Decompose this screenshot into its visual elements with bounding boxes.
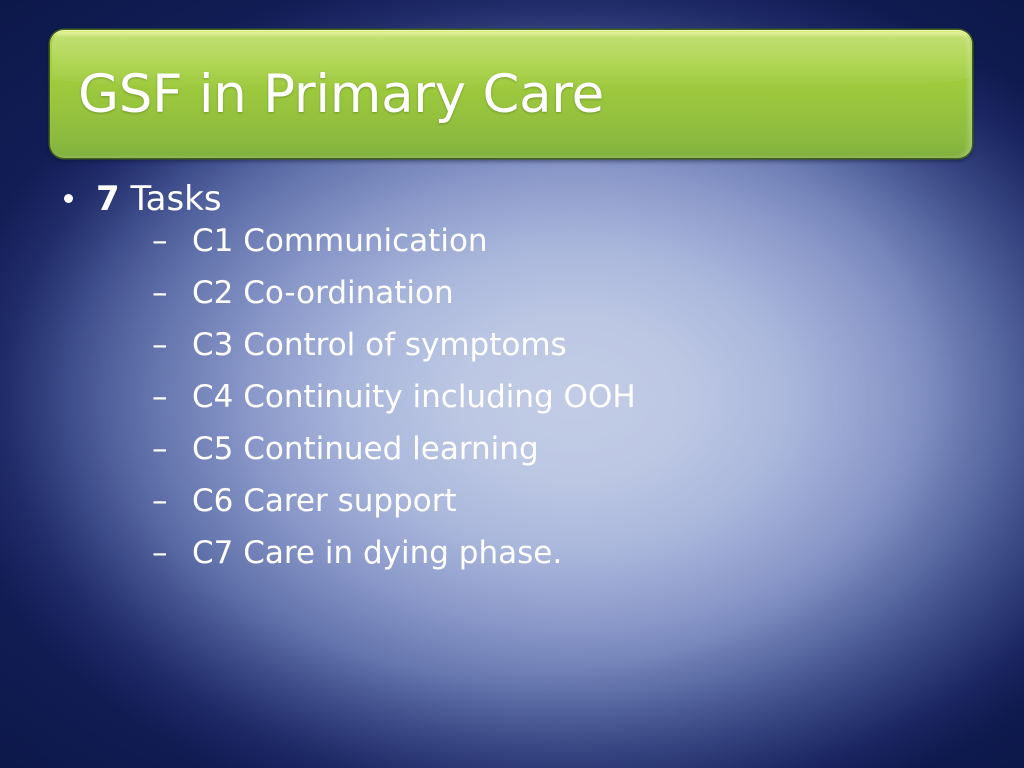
list-item-label: C3 Control of symptoms: [192, 327, 567, 363]
list-item-lead: 7: [96, 179, 120, 219]
list-item: – C7 Care in dying phase.: [96, 538, 984, 569]
list-item-label: C7 Care in dying phase.: [192, 535, 562, 571]
slide-body: 7 Tasks – C1 Communication – C2 Co-ordin…: [56, 182, 984, 590]
round-bullet-icon: [64, 194, 73, 203]
en-dash-bullet-icon: –: [152, 330, 168, 361]
list-item: – C1 Communication: [96, 226, 984, 257]
en-dash-bullet-icon: –: [152, 434, 168, 465]
list-item-label: C2 Co-ordination: [192, 275, 454, 311]
list-item: – C6 Carer support: [96, 486, 984, 517]
list-item-label: Tasks: [120, 179, 222, 219]
en-dash-bullet-icon: –: [152, 226, 168, 257]
en-dash-bullet-icon: –: [152, 538, 168, 569]
list-item-label: C6 Carer support: [192, 483, 457, 519]
list-item: 7 Tasks – C1 Communication – C2 Co-ordin…: [56, 182, 984, 569]
list-item-label: C1 Communication: [192, 223, 488, 259]
en-dash-bullet-icon: –: [152, 382, 168, 413]
presentation-slide: GSF in Primary Care 7 Tasks – C1 Communi…: [0, 0, 1024, 768]
list-item: – C4 Continuity including OOH: [96, 382, 984, 413]
page-title: GSF in Primary Care: [50, 68, 604, 121]
en-dash-bullet-icon: –: [152, 278, 168, 309]
list-item: – C5 Continued learning: [96, 434, 984, 465]
list-item: – C3 Control of symptoms: [96, 330, 984, 361]
bullet-list-level1: 7 Tasks – C1 Communication – C2 Co-ordin…: [56, 182, 984, 569]
bullet-list-level2: – C1 Communication – C2 Co-ordination – …: [96, 226, 984, 569]
en-dash-bullet-icon: –: [152, 486, 168, 517]
list-item-label: C5 Continued learning: [192, 431, 539, 467]
list-item: – C2 Co-ordination: [96, 278, 984, 309]
list-item-label: C4 Continuity including OOH: [192, 379, 636, 415]
slide-title-plaque: GSF in Primary Care: [50, 30, 972, 158]
